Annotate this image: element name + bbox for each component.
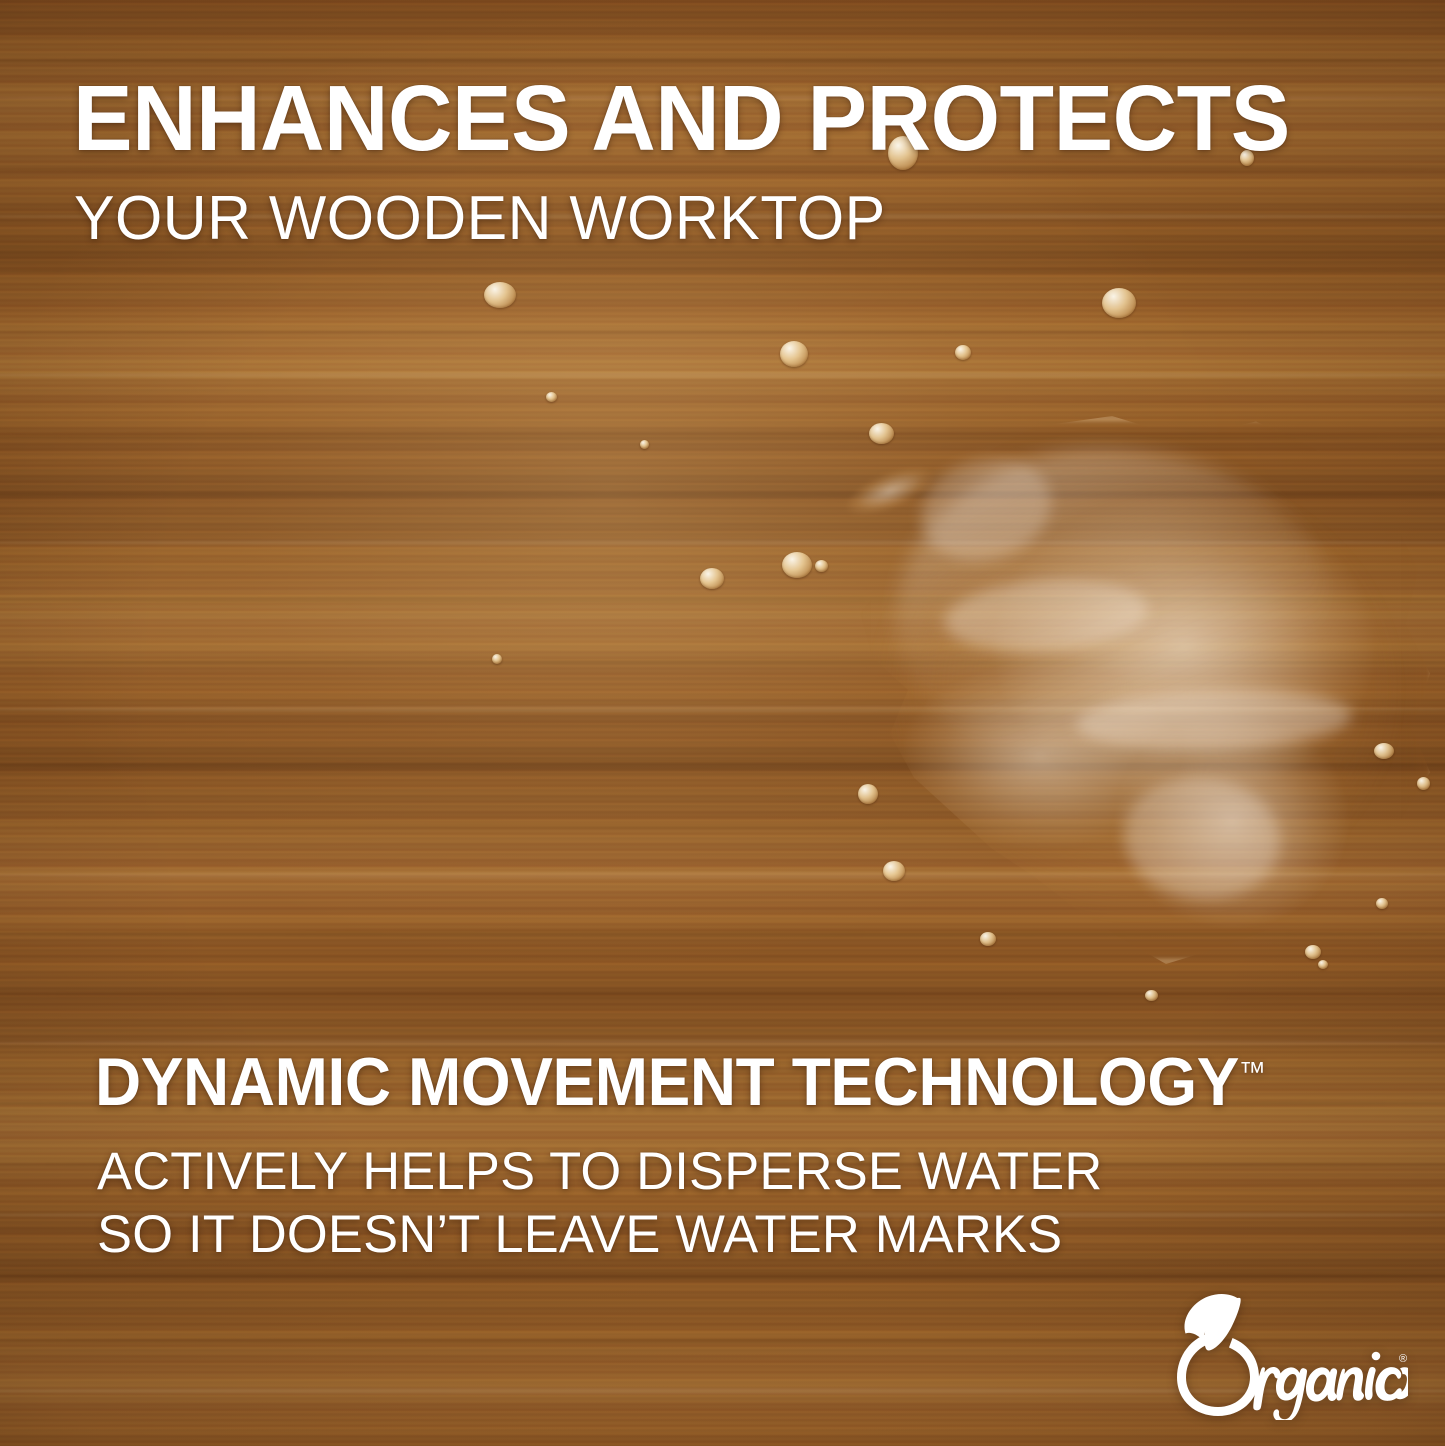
letter-n [1336, 1367, 1364, 1401]
water-pool [836, 416, 1436, 964]
feature-title: DYNAMIC MOVEMENT TECHNOLOGY™ [95, 1048, 1266, 1116]
feature-description: ACTIVELY HELPS TO DISPERSE WATER SO IT D… [97, 1140, 1102, 1266]
page-title: ENHANCES AND PROTECTS [73, 72, 1290, 165]
brand-logo: ® [1168, 1288, 1408, 1420]
description-line: ACTIVELY HELPS TO DISPERSE WATER [97, 1140, 1102, 1203]
product-feature-poster: ENHANCES AND PROTECTS YOUR WOODEN WORKTO… [0, 0, 1445, 1446]
description-line: SO IT DOESN’T LEAVE WATER MARKS [97, 1203, 1102, 1266]
letter-a [1306, 1367, 1337, 1401]
trademark-symbol: ™ [1239, 1056, 1266, 1088]
feature-title-text: DYNAMIC MOVEMENT TECHNOLOGY [95, 1044, 1239, 1120]
registered-mark: ® [1399, 1353, 1407, 1365]
page-subtitle: YOUR WOODEN WORKTOP [74, 188, 886, 250]
letter-i-dot [1372, 1352, 1381, 1361]
letter-i [1365, 1367, 1376, 1400]
